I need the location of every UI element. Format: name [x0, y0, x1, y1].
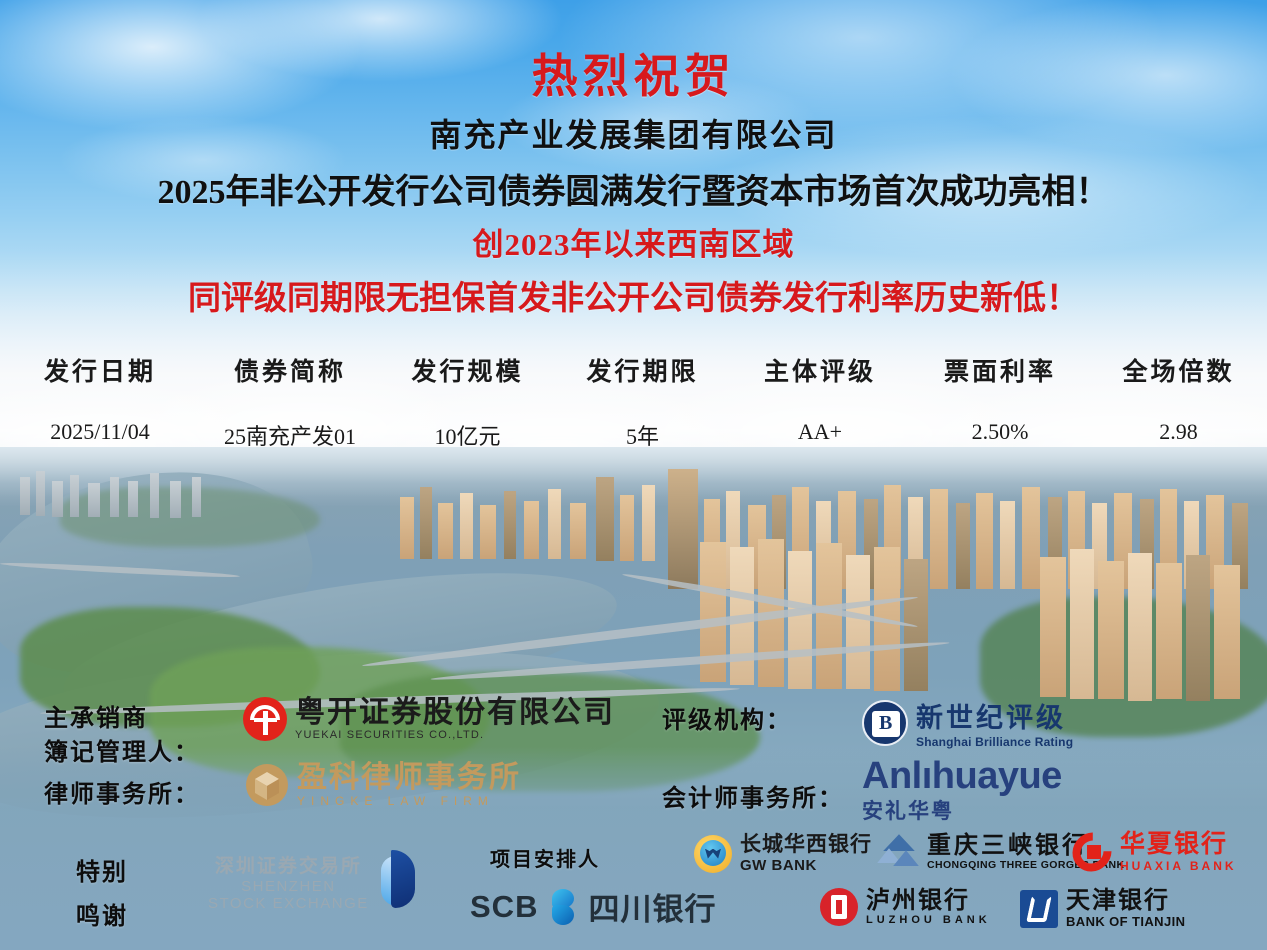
szse-name-en-1: SHENZHEN — [208, 878, 369, 895]
company-name: 南充产业发展集团有限公司 — [0, 110, 1267, 156]
yingke-name-cn: 盈科律师事务所 — [297, 762, 521, 794]
scb-name-cn: 四川银行 — [588, 884, 716, 929]
bank-of-tianjin-icon — [1020, 890, 1058, 928]
logo-bank-of-tianjin: 天津银行 BANK OF TIANJIN — [1020, 888, 1185, 929]
gwbank-name-en: GW BANK — [740, 857, 872, 874]
anlihuayue-name-cn: 安礼华粤 — [862, 795, 1062, 825]
label-bookrunner: 簿记管理人： — [44, 732, 200, 767]
szse-leaf-icon — [377, 850, 421, 912]
logo-yuekai-securities: 粤开证券股份有限公司 YUEKAI SECURITIES CO.,LTD. — [243, 697, 615, 741]
td-issue-size: 10亿元 — [380, 419, 555, 451]
table-header-row: 发行日期 债券简称 发行规模 发行期限 主体评级 票面利率 全场倍数 — [0, 348, 1267, 392]
yingke-name-en: YINGKE LAW FIRM — [297, 794, 521, 808]
table-row: 2025/11/04 25南充产发01 10亿元 5年 AA+ 2.50% 2.… — [0, 419, 1267, 451]
gwbank-name-cn: 长城华西银行 — [740, 833, 872, 857]
issue-headline: 2025年非公开发行公司债券圆满发行暨资本市场首次成功亮相！ — [0, 164, 1267, 213]
logo-huaxia-bank: 华夏银行 HUAXIA BANK — [1072, 831, 1237, 873]
brilliance-name-en: Shanghai Brilliance Rating — [916, 735, 1073, 749]
td-coupon-rate: 2.50% — [910, 419, 1090, 451]
label-lead-underwriter: 主承销商 — [44, 698, 148, 733]
record-headline-line1: 创2023年以来西南区域 — [0, 219, 1267, 264]
label-accounting-firm: 会计师事务所： — [662, 778, 844, 813]
logo-gw-bank: 长城华西银行 GW BANK — [694, 833, 872, 874]
luzhou-name-cn: 泸州银行 — [866, 888, 991, 914]
yuekai-name-en: YUEKAI SECURITIES CO.,LTD. — [295, 729, 615, 741]
gw-bank-icon — [694, 835, 732, 873]
congrats-title: 热烈祝贺 — [0, 40, 1267, 106]
yuekai-mark-icon — [243, 697, 287, 741]
logo-shanghai-brilliance-rating: 新世纪评级 Shanghai Brilliance Rating — [862, 696, 1073, 749]
bond-summary-table: 发行日期 债券简称 发行规模 发行期限 主体评级 票面利率 全场倍数 2025/… — [0, 348, 1267, 451]
luzhou-bank-icon — [820, 888, 858, 926]
td-issue-date: 2025/11/04 — [0, 419, 200, 451]
label-special-thanks-2: 鸣谢 — [76, 896, 128, 931]
logo-bank-of-sichuan: SCB 四川银行 — [470, 884, 716, 929]
td-issuer-rating: AA+ — [730, 419, 910, 451]
yuekai-name-cn: 粤开证券股份有限公司 — [295, 697, 615, 729]
huaxia-bank-icon — [1072, 833, 1112, 871]
luzhou-name-en: LUZHOU BANK — [866, 914, 991, 926]
td-bond-name: 25南充产发01 — [200, 419, 380, 451]
three-gorges-icon — [877, 834, 919, 870]
tianjin-name-en: BANK OF TIANJIN — [1066, 914, 1185, 929]
scb-abbr: SCB — [470, 889, 538, 925]
label-special-thanks-1: 特别 — [76, 852, 128, 887]
th-issuer-rating: 主体评级 — [730, 348, 910, 392]
th-tenor: 发行期限 — [555, 348, 730, 392]
congratulation-poster: 热烈祝贺 南充产业发展集团有限公司 2025年非公开发行公司债券圆满发行暨资本市… — [0, 0, 1267, 950]
td-bid-multiple: 2.98 — [1090, 419, 1267, 451]
th-bond-name: 债券简称 — [200, 348, 380, 392]
th-issue-size: 发行规模 — [380, 348, 555, 392]
label-project-arranger: 项目安排人 — [490, 843, 600, 872]
huaxia-name-en: HUAXIA BANK — [1120, 859, 1237, 873]
scb-droplets-icon — [546, 888, 580, 926]
yingke-cube-icon — [245, 763, 289, 807]
brilliance-seal-icon — [862, 700, 908, 746]
anlihuayue-name-en: Anlıhuayue — [862, 757, 1062, 795]
label-law-firm: 律师事务所： — [44, 774, 200, 809]
szse-name-en-2: STOCK EXCHANGE — [208, 895, 369, 912]
logo-shenzhen-stock-exchange: 深圳证券交易所 SHENZHEN STOCK EXCHANGE — [208, 850, 421, 912]
logo-yingke-law-firm: 盈科律师事务所 YINGKE LAW FIRM — [245, 762, 521, 808]
label-rating-agency: 评级机构： — [662, 700, 792, 735]
brilliance-name-cn: 新世纪评级 — [916, 696, 1073, 735]
th-bid-multiple: 全场倍数 — [1090, 348, 1267, 392]
th-issue-date: 发行日期 — [0, 348, 200, 392]
th-coupon-rate: 票面利率 — [910, 348, 1090, 392]
logo-anlihuayue: Anlıhuayue 安礼华粤 — [862, 757, 1062, 825]
td-tenor: 5年 — [555, 419, 730, 451]
record-headline-line2: 同评级同期限无担保首发非公开公司债券发行利率历史新低！ — [0, 271, 1267, 319]
tianjin-name-cn: 天津银行 — [1066, 888, 1185, 914]
huaxia-name-cn: 华夏银行 — [1120, 831, 1237, 859]
szse-name-cn: 深圳证券交易所 — [208, 851, 369, 878]
logo-luzhou-bank: 泸州银行 LUZHOU BANK — [820, 888, 991, 926]
